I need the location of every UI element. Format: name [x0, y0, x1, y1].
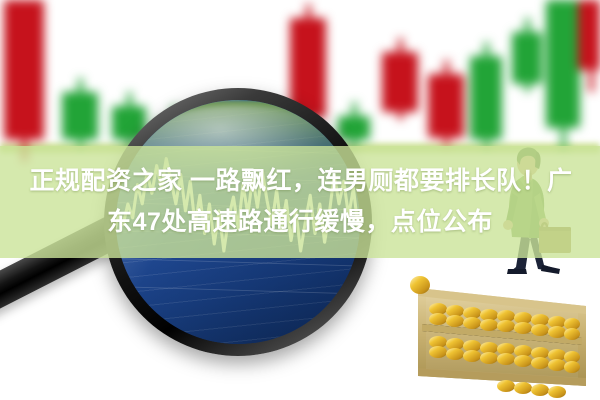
candlestick-body [4, 0, 44, 140]
candlestick-body [546, 0, 580, 128]
candlestick-body [578, 0, 600, 70]
headline-band: 正规配资之家 一路飘红，连男厕都要排长队！广 东47处高速路通行缓慢，点位公布 [0, 146, 600, 258]
candlestick-body [470, 56, 502, 140]
candlestick-body [512, 32, 542, 84]
candlestick-body [62, 92, 98, 140]
headline-line-1: 正规配资之家 一路飘红，连男厕都要排长队！广 [30, 161, 573, 202]
headline-line-2: 东47处高速路通行缓慢，点位公布 [107, 202, 493, 243]
news-thumbnail-image: 正规配资之家 一路飘红，连男厕都要排长队！广 东47处高速路通行缓慢，点位公布 [0, 0, 600, 400]
abacus-illustration [400, 268, 600, 400]
candlestick-body [382, 52, 418, 112]
candlestick-body [428, 74, 464, 138]
